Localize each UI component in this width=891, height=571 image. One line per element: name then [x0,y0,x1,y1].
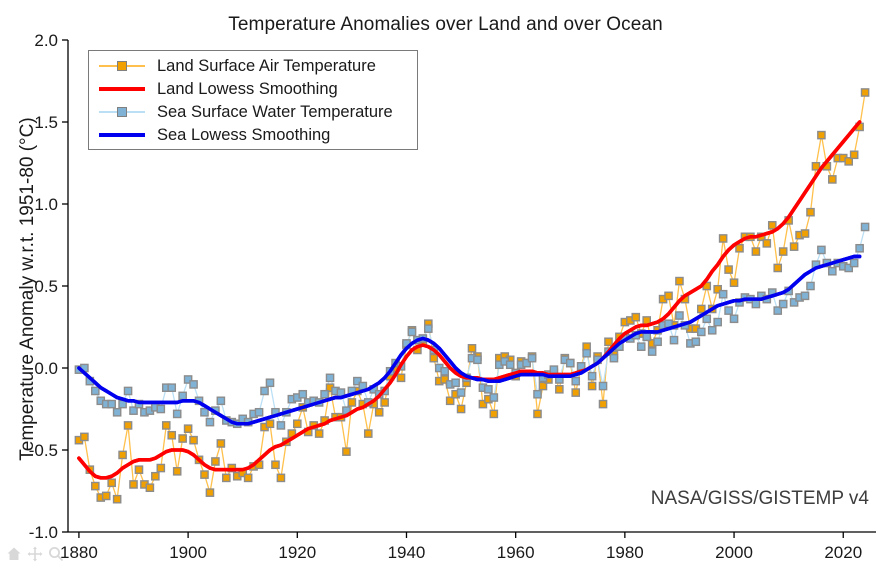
data-point [589,373,596,380]
data-point [201,409,208,416]
data-point [730,279,737,286]
home-icon[interactable] [6,546,22,562]
data-point [114,496,121,503]
data-point [856,245,863,252]
data-point [146,484,153,491]
data-point [605,338,612,345]
x-tick-label: 1880 [60,543,98,562]
legend-swatch-land-surface [99,57,145,75]
data-point [589,382,596,389]
legend-swatch-land-lowess [99,80,145,98]
data-point [801,292,808,299]
data-point [851,259,858,266]
data-point [807,282,814,289]
data-point [299,391,306,398]
data-point [212,458,219,465]
data-point [572,378,579,385]
legend-item-sea-lowess: Sea Lowess Smoothing [99,123,330,147]
data-point [114,409,121,416]
data-point [381,399,388,406]
data-point [780,248,787,255]
data-point [201,471,208,478]
data-point [861,89,868,96]
data-point [528,355,535,362]
data-point [791,243,798,250]
data-point [92,387,99,394]
data-point [829,268,836,275]
data-point [763,240,770,247]
data-point [174,468,181,475]
legend: Land Surface Air Temperature Land Lowess… [88,50,418,150]
data-point [408,328,415,335]
y-tick-label: 1.0 [34,195,58,214]
data-point [468,345,475,352]
data-point [818,246,825,253]
data-point [321,391,328,398]
x-tick-label: 2020 [824,543,862,562]
x-tick-label: 1980 [606,543,644,562]
data-point [654,338,661,345]
data-point [245,474,252,481]
data-point [807,209,814,216]
data-point [103,492,110,499]
data-point [474,356,481,363]
data-point [583,350,590,357]
data-point [441,368,448,375]
data-point [780,300,787,307]
data-point [217,397,224,404]
legend-swatch-sea-lowess [99,126,145,144]
y-tick-label: 0.5 [34,277,58,296]
data-point [730,315,737,322]
y-tick-label: 1.5 [34,113,58,132]
legend-label-sea-surface: Sea Surface Water Temperature [157,103,393,122]
data-point [397,374,404,381]
data-point [124,422,131,429]
data-point [534,391,541,398]
x-tick-label: 1920 [278,543,316,562]
data-point [485,386,492,393]
data-point [261,387,268,394]
data-point [752,248,759,255]
data-point [168,432,175,439]
data-point [550,366,557,373]
data-point [425,325,432,332]
data-point [326,374,333,381]
data-point [272,461,279,468]
data-point [698,328,705,335]
data-point [81,433,88,440]
legend-label-land-surface: Land Surface Air Temperature [157,57,376,76]
data-point [599,400,606,407]
data-point [736,245,743,252]
data-point [676,277,683,284]
legend-item-land-surface: Land Surface Air Temperature [99,54,376,78]
data-point [130,481,137,488]
y-tick-label: 2.0 [34,31,58,50]
data-point [665,292,672,299]
legend-item-sea-surface: Sea Surface Water Temperature [99,100,393,124]
data-point [174,410,181,417]
data-point [92,482,99,489]
data-point [179,392,186,399]
data-point [348,399,355,406]
x-tick-label: 1960 [497,543,535,562]
data-point [703,315,710,322]
data-point [752,300,759,307]
data-point [294,420,301,427]
x-tick-label: 1900 [169,543,207,562]
matplotlib-toolbar[interactable] [6,546,64,562]
data-point [190,437,197,444]
data-point [801,230,808,237]
data-point [534,410,541,417]
data-point [714,318,721,325]
legend-label-sea-lowess: Sea Lowess Smoothing [157,126,330,145]
data-point [277,474,284,481]
data-point [643,333,650,340]
data-point [676,312,683,319]
figure-canvas: Temperature Anomalies over Land and over… [0,0,891,571]
x-tick-label: 2000 [715,543,753,562]
data-point [168,384,175,391]
data-point [223,474,230,481]
data-point [119,451,126,458]
data-point [720,235,727,242]
data-point [190,381,197,388]
data-point [610,355,617,362]
data-point [376,409,383,416]
data-point [812,163,819,170]
data-series-group [75,89,868,503]
data-point [490,394,497,401]
legend-item-land-lowess: Land Lowess Smoothing [99,77,338,101]
data-point [709,327,716,334]
zoom-icon[interactable] [48,546,64,562]
data-point [861,223,868,230]
data-point [266,379,273,386]
data-point [818,132,825,139]
data-point [769,222,776,229]
data-point [108,479,115,486]
data-point [152,473,159,480]
data-point [556,386,563,393]
y-tick-label: -0.5 [29,441,58,460]
data-point [316,430,323,437]
data-point [774,264,781,271]
data-point [632,314,639,321]
data-point [277,422,284,429]
data-point [599,382,606,389]
data-point [157,464,164,471]
data-point [124,387,131,394]
legend-label-land-lowess: Land Lowess Smoothing [157,80,338,99]
data-point [206,489,213,496]
y-tick-label: 0.0 [34,359,58,378]
data-point [255,409,262,416]
x-tick-label: 1940 [388,543,426,562]
data-point [725,266,732,273]
data-point [185,425,192,432]
data-point [567,359,574,366]
y-tick-label: -1.0 [29,523,58,542]
data-point [452,379,459,386]
data-point [457,389,464,396]
data-point [829,176,836,183]
series-markers-2 [75,223,868,429]
data-point [179,435,186,442]
data-point [851,151,858,158]
data-point [108,400,115,407]
data-point [638,343,645,350]
data-point [266,420,273,427]
data-point [430,355,437,362]
data-point [206,419,213,426]
data-point [343,448,350,455]
data-point [692,338,699,345]
data-point [507,361,514,368]
data-point [157,405,164,412]
data-point [163,422,170,429]
data-point [135,466,142,473]
data-point [457,405,464,412]
data-point [490,410,497,417]
data-point [217,440,224,447]
data-point [649,348,656,355]
legend-swatch-sea-surface [99,103,145,121]
data-point [720,291,727,298]
move-icon[interactable] [27,546,43,562]
data-point [670,337,677,344]
data-point [572,389,579,396]
data-point [698,305,705,312]
data-point [365,430,372,437]
source-attribution: NASA/GISS/GISTEMP v4 [651,488,869,510]
data-point [725,307,732,314]
series-line-2 [79,227,865,425]
